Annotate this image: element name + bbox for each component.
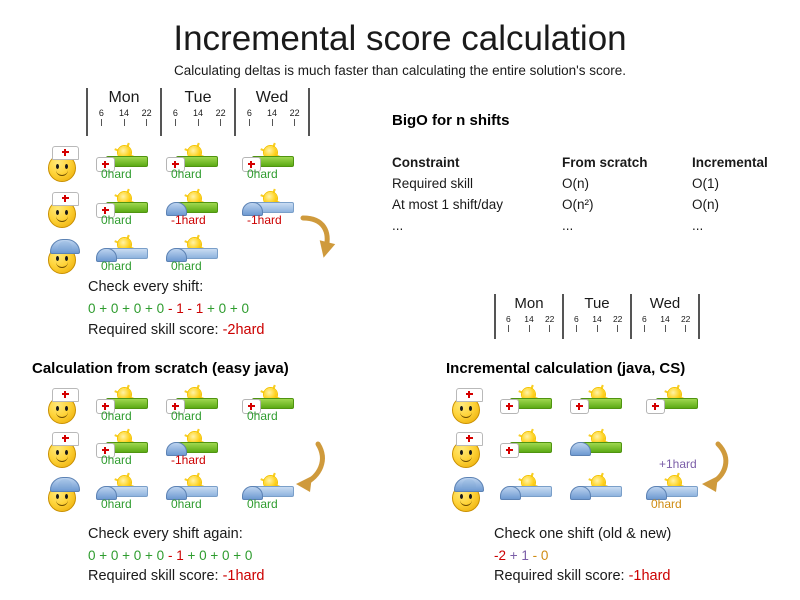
shift-score-label: -1hard — [171, 213, 206, 227]
shift-block[interactable]: 0hard — [242, 388, 294, 422]
shift-block[interactable]: 0hard — [242, 146, 294, 180]
hour-tick — [529, 325, 530, 332]
hour-label: 22 — [675, 313, 696, 325]
bigo-cell: At most 1 shift/day — [392, 194, 562, 215]
top-score-line: Required skill score: -2hard — [88, 320, 265, 341]
shift-block[interactable]: -1hard — [166, 432, 218, 466]
page-title: Incremental score calculation — [0, 18, 800, 60]
employee-avatar-nurse — [44, 200, 72, 228]
shift-score-label: 0hard — [171, 497, 202, 511]
shift-block[interactable] — [646, 388, 698, 422]
bigo-table-row: ......... — [392, 215, 800, 236]
hour-tick — [220, 119, 221, 126]
employee-avatar-nurse — [44, 396, 72, 424]
move-arrow-scratch — [284, 440, 330, 496]
bigo-column-header: Incremental — [692, 152, 800, 173]
day-label: Wed — [236, 88, 308, 107]
hour-label: 14 — [261, 107, 284, 119]
hour-label: 22 — [539, 313, 560, 325]
hour-label: 14 — [519, 313, 540, 325]
day-label: Mon — [496, 294, 562, 313]
builder-helmet-icon — [570, 442, 591, 456]
shift-block[interactable]: 0hard — [96, 192, 148, 226]
formula-term: + 0 + 0 — [207, 301, 249, 316]
day-label: Tue — [564, 294, 630, 313]
shift-block[interactable]: -1hard — [242, 192, 294, 226]
shift-score-label: 0hard — [171, 167, 202, 181]
builder-helmet-icon — [500, 486, 521, 500]
smiley-face-icon — [48, 396, 76, 424]
nurse-cap-icon — [52, 388, 79, 402]
formula-term: -2 — [494, 548, 510, 563]
employee-avatar-builder — [44, 246, 72, 274]
day-column: Tue61422 — [564, 294, 630, 333]
employee-avatar-builder — [448, 484, 476, 512]
scratch-heading: Calculation from scratch (easy java) — [32, 360, 289, 377]
shift-block[interactable] — [500, 476, 552, 510]
builder-helmet-icon — [50, 477, 80, 492]
shift-block[interactable]: 0hard — [166, 146, 218, 180]
incremental-score-line: Required skill score: -1hard — [494, 566, 671, 587]
smiley-face-icon — [48, 246, 76, 274]
shift-score-label: 0hard — [171, 259, 202, 273]
day-label: Tue — [162, 88, 234, 107]
bigo-cell: ... — [392, 215, 562, 236]
shift-score-label: 0hard — [247, 167, 278, 181]
bigo-cell: O(1) — [692, 173, 800, 194]
day-column: Mon61422 — [496, 294, 562, 333]
smile-mouth-icon — [56, 214, 68, 222]
scratch-score-label: Required skill score: — [88, 568, 223, 584]
hour-tick — [294, 119, 295, 126]
shift-block[interactable] — [570, 388, 622, 422]
shift-score-label: 0hard — [247, 409, 278, 423]
hour-tick — [597, 325, 598, 332]
shift-block[interactable] — [500, 388, 552, 422]
scratch-check-text: Check every shift again: — [88, 524, 243, 545]
formula-term: - 1 — [168, 548, 188, 563]
nurse-cap-icon — [570, 399, 589, 414]
builder-helmet-icon — [50, 239, 80, 254]
hour-label: 22 — [135, 107, 158, 119]
smile-mouth-icon — [56, 410, 68, 418]
shift-block[interactable]: 0hard — [96, 388, 148, 422]
day-column: Wed61422 — [236, 88, 308, 127]
smiley-face-icon — [48, 440, 76, 468]
employee-avatar-builder — [44, 484, 72, 512]
formula-term: 0 + 0 + 0 + 0 — [88, 301, 168, 316]
nurse-cap-icon — [646, 399, 665, 414]
bigo-header-row: ConstraintFrom scratchIncremental — [392, 152, 800, 173]
hour-label: 6 — [634, 313, 655, 325]
hour-label: 6 — [164, 107, 187, 119]
top-score-label: Required skill score: — [88, 322, 223, 338]
move-arrow-incremental — [690, 440, 736, 496]
nurse-cap-icon — [456, 388, 483, 402]
scratch-formula: 0 + 0 + 0 + 0 - 1 + 0 + 0 + 0 — [88, 546, 252, 566]
bigo-cell: O(n²) — [562, 194, 692, 215]
day-column: Wed61422 — [632, 294, 698, 333]
bigo-table: ConstraintFrom scratchIncrementalRequire… — [392, 152, 800, 236]
hour-label: 14 — [587, 313, 608, 325]
hour-tick — [644, 325, 645, 332]
shift-block[interactable]: 0hard — [96, 476, 148, 510]
bigo-cell: O(n) — [692, 194, 800, 215]
smile-mouth-icon — [56, 260, 68, 268]
smiley-face-icon — [452, 396, 480, 424]
day-label: Wed — [632, 294, 698, 313]
shift-block[interactable]: 0hard — [166, 388, 218, 422]
hour-tick — [576, 325, 577, 332]
shift-score-label: 0hard — [101, 213, 132, 227]
hour-tick — [272, 119, 273, 126]
hour-label: 6 — [238, 107, 261, 119]
hour-label: 6 — [498, 313, 519, 325]
shift-score-label: 0hard — [101, 259, 132, 273]
shift-block[interactable]: 0hard — [166, 238, 218, 272]
nurse-cap-icon — [52, 192, 79, 206]
shift-score-label: 0hard — [101, 409, 132, 423]
formula-term: + 1 — [510, 548, 533, 563]
bigo-cell: Required skill — [392, 173, 562, 194]
formula-term: - 1 — [187, 301, 207, 316]
hour-tick — [249, 119, 250, 126]
builder-helmet-icon — [454, 477, 484, 492]
hour-tick — [549, 325, 550, 332]
shift-score-label: 0hard — [247, 497, 278, 511]
nurse-cap-icon — [52, 432, 79, 446]
bigo-cell: ... — [692, 215, 800, 236]
formula-term: - 1 — [168, 301, 188, 316]
employee-avatar-nurse — [448, 440, 476, 468]
bigo-table-row: At most 1 shift/dayO(n²)O(n) — [392, 194, 800, 215]
scratch-score-line: Required skill score: -1hard — [88, 566, 265, 587]
smiley-face-icon — [48, 484, 76, 512]
incremental-score-label: Required skill score: — [494, 568, 629, 584]
shift-score-label: 0hard — [171, 409, 202, 423]
bigo-table-row: Required skillO(n)O(1) — [392, 173, 800, 194]
hour-label: 14 — [113, 107, 136, 119]
hour-label: 6 — [90, 107, 113, 119]
schedule-header-top: Mon61422Tue61422Wed61422 — [86, 88, 310, 136]
shift-block[interactable]: 0hard — [96, 432, 148, 466]
incremental-score-value: -1hard — [629, 568, 671, 584]
shift-score-label: 0hard — [101, 453, 132, 467]
shift-block[interactable] — [500, 432, 552, 466]
shift-score-label: 0hard — [651, 497, 682, 511]
employee-avatar-nurse — [44, 154, 72, 182]
shift-score-label: -1hard — [171, 453, 206, 467]
smiley-face-icon — [452, 484, 480, 512]
nurse-cap-icon — [500, 443, 519, 458]
employee-avatar-nurse — [44, 440, 72, 468]
day-label: Mon — [88, 88, 160, 107]
hour-label: 22 — [209, 107, 232, 119]
hour-tick — [175, 119, 176, 126]
smile-mouth-icon — [460, 498, 472, 506]
top-formula: 0 + 0 + 0 + 0 - 1 - 1 + 0 + 0 — [88, 299, 249, 319]
day-column: Tue61422 — [162, 88, 234, 127]
ruler-divider — [308, 88, 310, 136]
bigo-column-header: From scratch — [562, 152, 692, 173]
smiley-face-icon — [48, 200, 76, 228]
schedule-header-incremental: Mon61422Tue61422Wed61422 — [494, 294, 700, 339]
hour-tick — [198, 119, 199, 126]
hour-tick — [665, 325, 666, 332]
shift-block[interactable] — [570, 476, 622, 510]
formula-term: + 0 + 0 + 0 — [187, 548, 252, 563]
smiley-face-icon — [48, 154, 76, 182]
incremental-check-text: Check one shift (old & new) — [494, 524, 671, 545]
smile-mouth-icon — [460, 454, 472, 462]
move-arrow-top — [300, 214, 340, 262]
smile-mouth-icon — [56, 168, 68, 176]
bigo-cell: O(n) — [562, 173, 692, 194]
day-column: Mon61422 — [88, 88, 160, 127]
hour-tick — [508, 325, 509, 332]
smile-mouth-icon — [56, 454, 68, 462]
nurse-cap-icon — [500, 399, 519, 414]
nurse-cap-icon — [456, 432, 483, 446]
employee-avatar-nurse — [448, 396, 476, 424]
shift-score-label: 0hard — [101, 167, 132, 181]
shift-block[interactable]: 0hard — [96, 238, 148, 272]
hour-label: 22 — [283, 107, 306, 119]
hour-label: 14 — [187, 107, 210, 119]
top-score-value: -2hard — [223, 322, 265, 338]
formula-term: - 0 — [533, 548, 549, 563]
bigo-column-header: Constraint — [392, 152, 562, 173]
builder-helmet-icon — [570, 486, 591, 500]
bigo-cell: ... — [562, 215, 692, 236]
scratch-score-value: -1hard — [223, 568, 265, 584]
hour-label: 6 — [566, 313, 587, 325]
shift-score-label: -1hard — [247, 213, 282, 227]
page-subtitle: Calculating deltas is much faster than c… — [0, 62, 800, 79]
hour-tick — [124, 119, 125, 126]
top-check-text: Check every shift: — [88, 277, 203, 298]
incremental-formula: -2 + 1 - 0 — [494, 546, 548, 566]
nurse-cap-icon — [52, 146, 79, 160]
hour-label: 22 — [607, 313, 628, 325]
smile-mouth-icon — [56, 498, 68, 506]
shift-score-label: 0hard — [101, 497, 132, 511]
shift-block[interactable] — [570, 432, 622, 466]
smile-mouth-icon — [460, 410, 472, 418]
hour-tick — [617, 325, 618, 332]
hour-tick — [146, 119, 147, 126]
formula-term: 0 + 0 + 0 + 0 — [88, 548, 168, 563]
shift-block[interactable]: 0hard — [96, 146, 148, 180]
bigo-heading: BigO for n shifts — [392, 112, 510, 129]
shift-block[interactable]: 0hard — [166, 476, 218, 510]
shift-block[interactable]: -1hard — [166, 192, 218, 226]
hour-tick — [101, 119, 102, 126]
incremental-heading: Incremental calculation (java, CS) — [446, 360, 685, 377]
hour-label: 14 — [655, 313, 676, 325]
hour-tick — [685, 325, 686, 332]
smiley-face-icon — [452, 440, 480, 468]
ruler-divider — [698, 294, 700, 339]
